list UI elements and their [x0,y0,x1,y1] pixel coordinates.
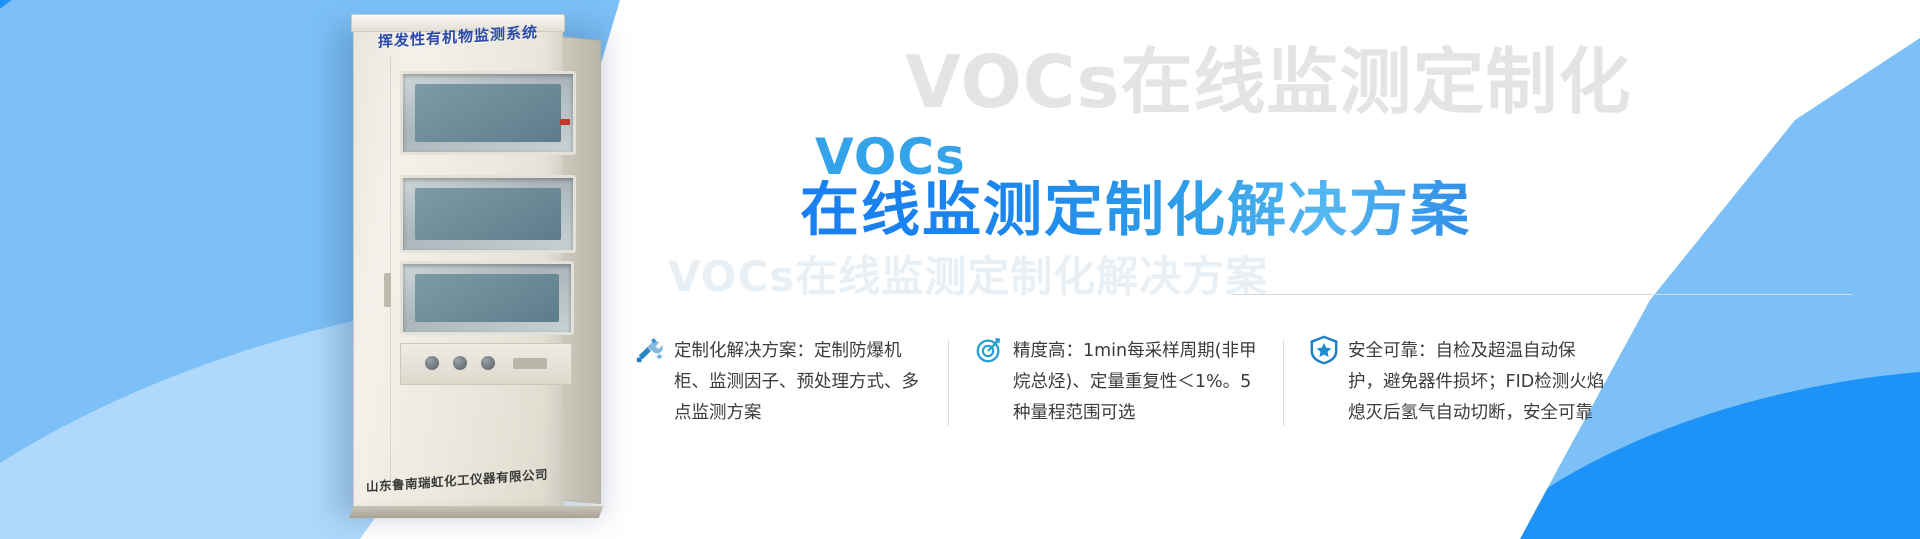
feature-text: 安全可靠：自检及超温自动保护，避免器件损坏；FID检测火焰熄灭后氢气自动切断，安… [1348,336,1606,429]
cabinet-screen [415,274,559,322]
headline-divider [1232,294,1852,295]
control-knob [453,356,467,370]
target-accuracy-icon [974,335,1004,365]
feature-item: 定制化解决方案：定制防爆机柜、监测因子、预处理方式、多点监测方案 [635,336,948,429]
cabinet-window-bottom [400,261,574,335]
cabinet-handle [384,273,391,307]
watermark-bottom: VOCs在线监测定制化解决方案 [668,256,1268,298]
control-knob [425,356,439,370]
cabinet-window-middle [400,175,576,253]
control-knob [481,356,495,370]
watermark-top: VOCs在线监测定制化 [905,46,1631,118]
cabinet-base [349,506,603,518]
product-image: 挥发性有机物监测系统 山东鲁南瑞虹化工仪器有限公司 [325,8,625,528]
feature-text: 精度高：1min每采样周期(非甲烷总烃)、定量重复性＜1%。5种量程范围可选 [1013,336,1261,429]
cabinet-window-top [400,71,576,155]
vocs-promo-banner: VOCs在线监测定制化 VOCs在线监测定制化解决方案 VOCs 在线监测定制化… [0,0,1920,539]
feature-item: 安全可靠：自检及超温自动保护，避免器件损坏；FID检测火焰熄灭后氢气自动切断，安… [1283,336,1628,429]
cabinet-screen [415,188,561,240]
control-button [513,358,547,369]
cabinet-control-panel [400,343,572,385]
cabinet-body [353,22,563,510]
feature-item: 精度高：1min每采样周期(非甲烷总烃)、定量重复性＜1%。5种量程范围可选 [948,336,1283,429]
shield-star-icon [1309,335,1339,365]
feature-list: 定制化解决方案：定制防爆机柜、监测因子、预处理方式、多点监测方案 精度高：1mi… [635,336,1628,429]
feature-text: 定制化解决方案：定制防爆机柜、监测因子、预处理方式、多点监测方案 [674,336,926,429]
cabinet-door-seam [390,57,391,487]
headline-chinese: 在线监测定制化解决方案 [800,180,1471,239]
tools-wrench-icon [635,335,665,365]
cabinet-indicator-light [560,119,570,125]
cabinet-screen [415,84,561,142]
